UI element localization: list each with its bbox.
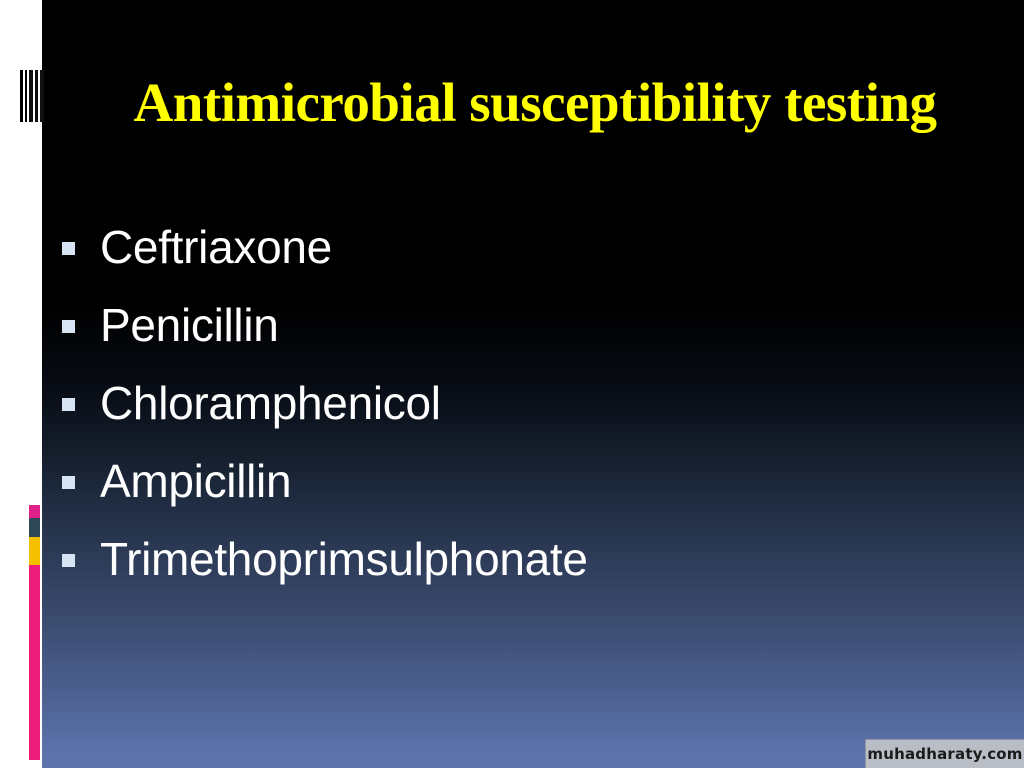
bullet-square-icon xyxy=(62,242,75,255)
watermark-badge: muhadharaty.com xyxy=(865,739,1024,768)
bullet-label: Ampicillin xyxy=(100,455,291,507)
stripe-bar xyxy=(40,70,44,122)
bullet-square-icon xyxy=(62,320,75,333)
bullet-label: Chloramphenicol xyxy=(100,377,441,429)
bullet-square-icon xyxy=(62,554,75,567)
list-item: Ampicillin xyxy=(62,442,1002,520)
bullet-square-icon xyxy=(62,476,75,489)
accent-color-bar xyxy=(29,505,40,760)
slide-title: Antimicrobial susceptibility testing xyxy=(90,72,980,134)
vertical-stripes-decoration xyxy=(20,70,44,122)
presentation-slide: Antimicrobial susceptibility testing Cef… xyxy=(0,0,1024,768)
slide-title-line-2: testing xyxy=(784,72,936,133)
bullet-square-icon xyxy=(62,398,75,411)
list-item: Ceftriaxone xyxy=(62,208,1002,286)
bullet-label: Trimethoprimsulphonate xyxy=(100,533,588,585)
bullet-list: Ceftriaxone Penicillin Chloramphenicol A… xyxy=(62,208,1002,598)
bullet-label: Penicillin xyxy=(100,299,279,351)
watermark-text: muhadharaty.com xyxy=(867,745,1022,763)
list-item: Penicillin xyxy=(62,286,1002,364)
yellow-segment-icon xyxy=(29,537,40,565)
pink-segment-icon xyxy=(29,505,40,518)
list-item: Chloramphenicol xyxy=(62,364,1002,442)
magenta-segment-icon xyxy=(29,565,40,760)
list-item: Trimethoprimsulphonate xyxy=(62,520,1002,598)
bullet-label: Ceftriaxone xyxy=(100,221,332,273)
teal-segment-icon xyxy=(29,518,40,537)
slide-title-line-1: Antimicrobial susceptibility xyxy=(134,72,771,133)
